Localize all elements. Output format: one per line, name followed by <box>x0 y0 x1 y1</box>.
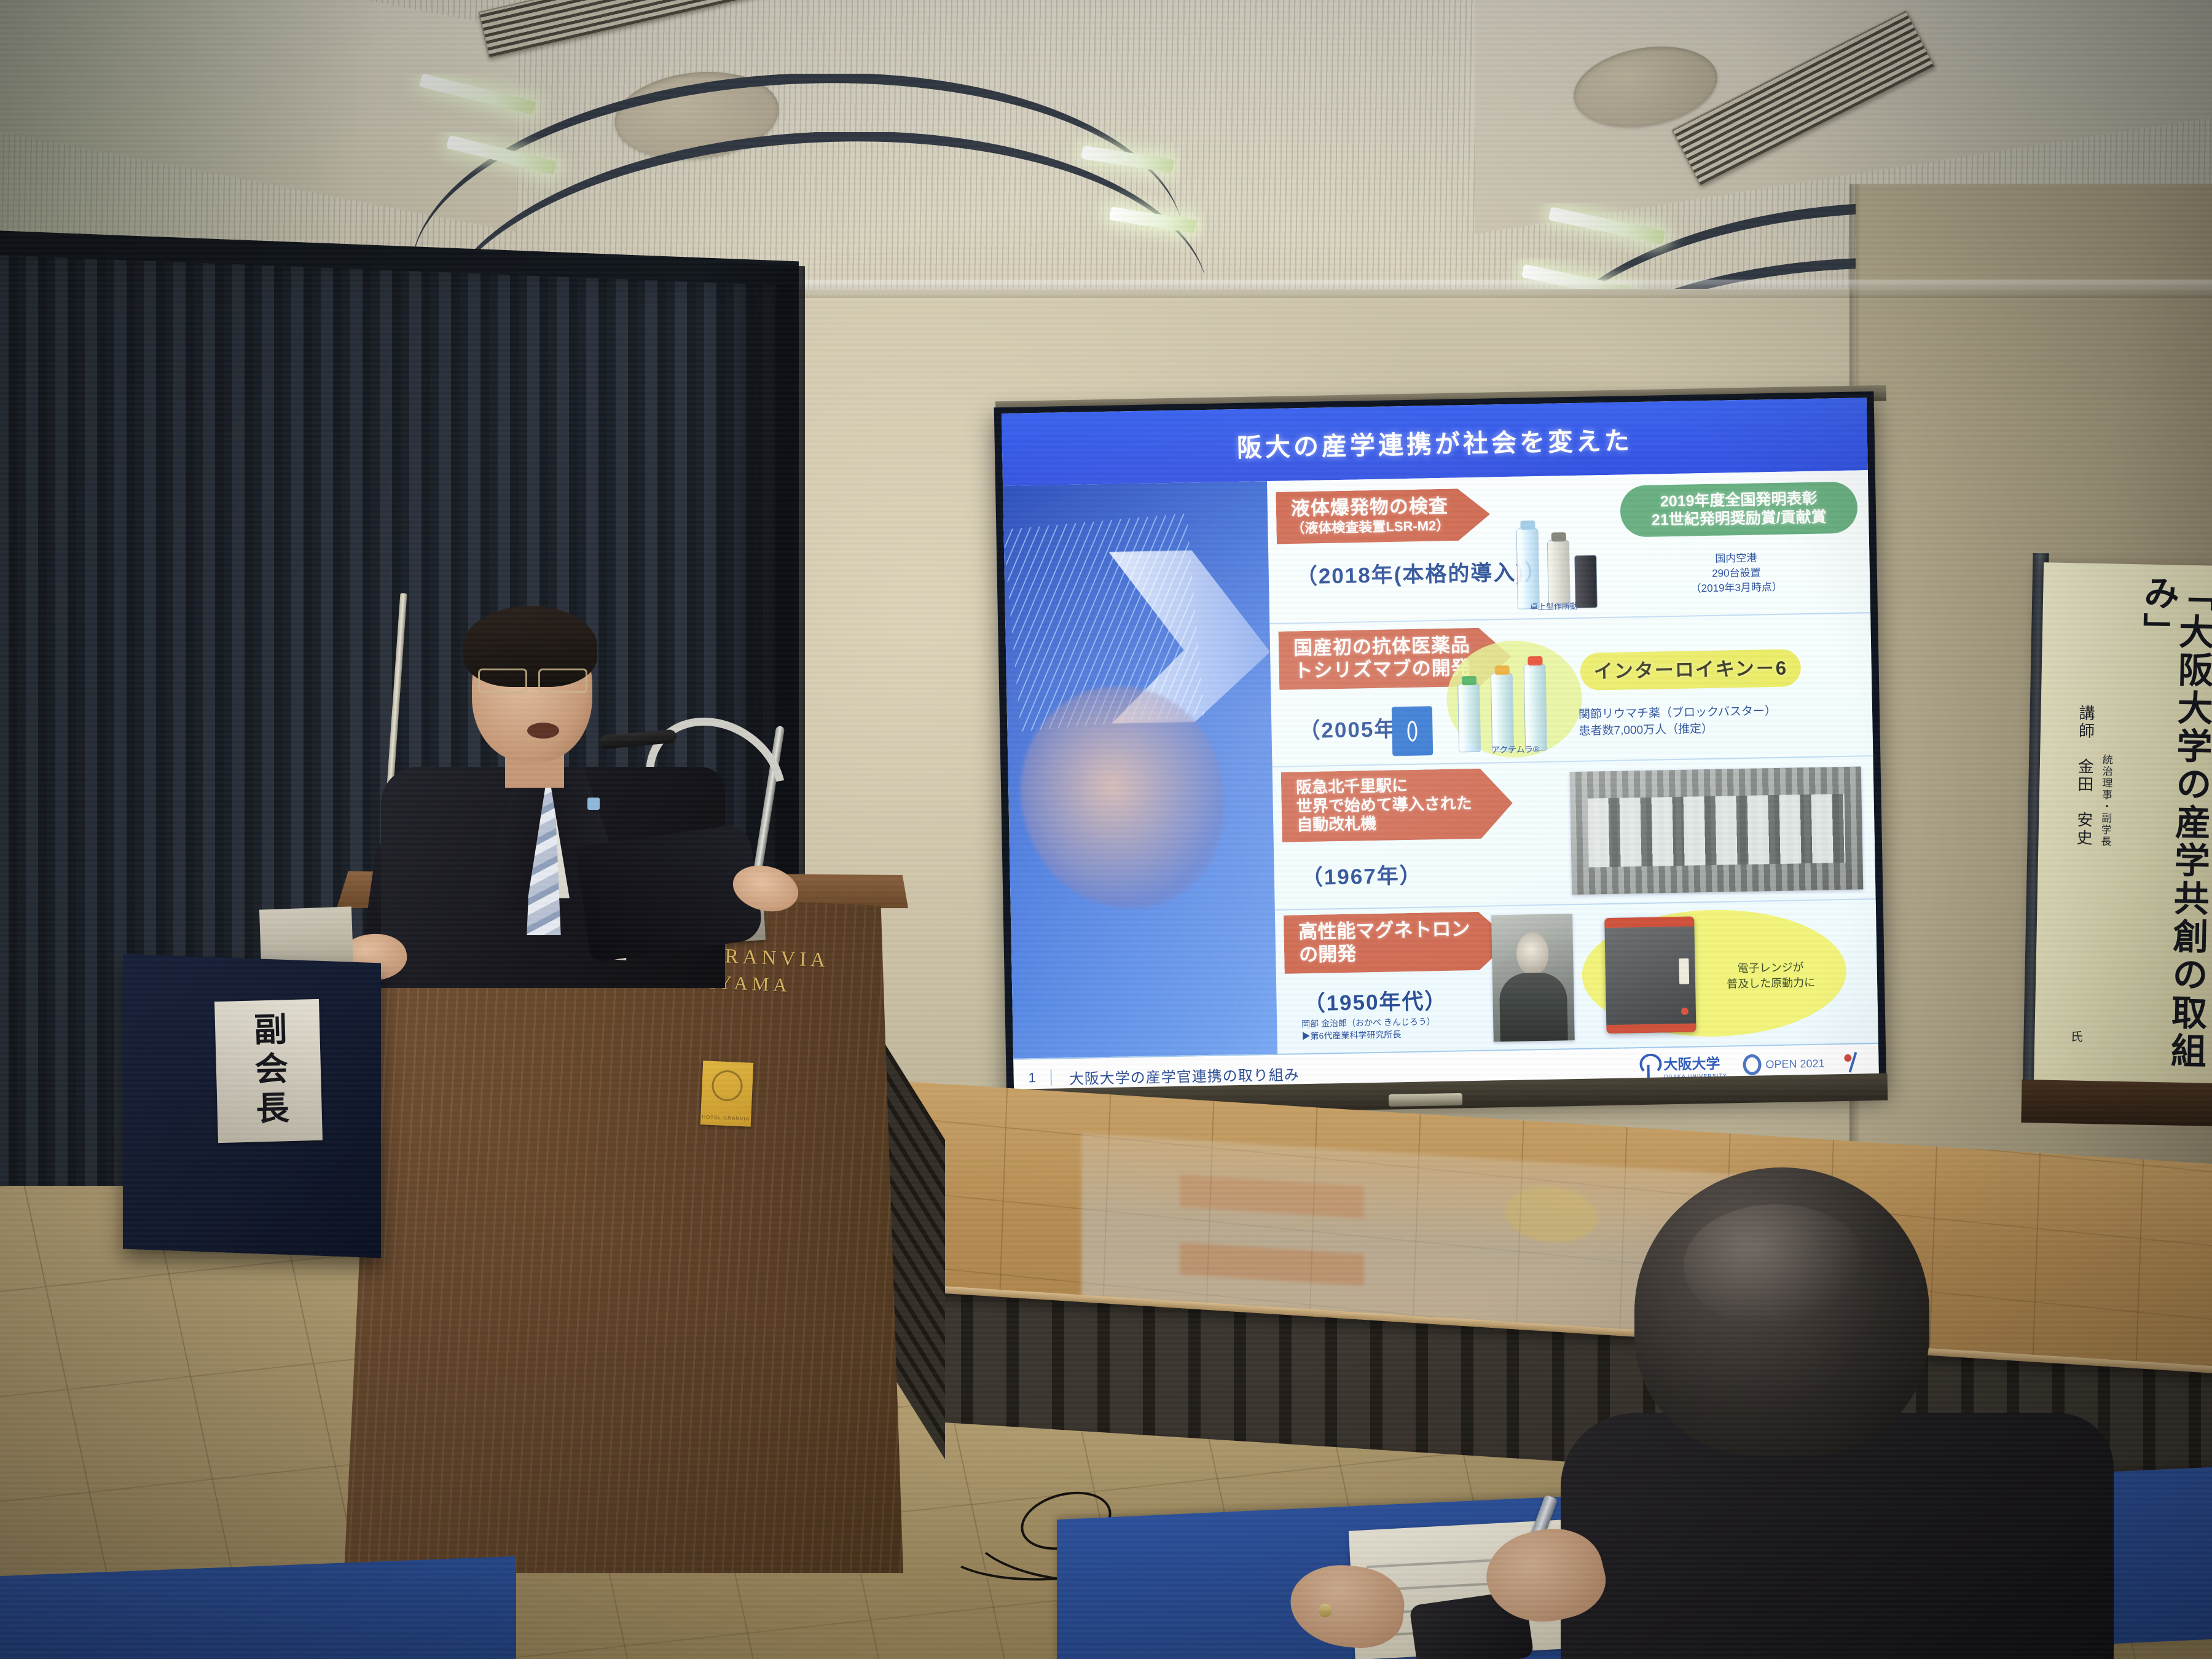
slide-page-number: 1 <box>1014 1070 1052 1086</box>
row-year: （1950年代） <box>1303 984 1448 1018</box>
open-ring-icon <box>1743 1054 1762 1076</box>
conference-room-photo: 阪大の産学連携が社会を変えた 液体爆発物の検査 （液体検査装置LSR-M2） （… <box>0 0 2212 1659</box>
logo-secondary-label: OPEN 2021 <box>1765 1057 1824 1071</box>
award-pill-line2: 21世紀発明奨励賞/貢献賞 <box>1634 508 1844 530</box>
open-2021-logo: OPEN 2021 <box>1743 1053 1825 1075</box>
speaker-lapel-pin <box>587 798 600 810</box>
row-tag-line2: 世界で始めて導入された <box>1296 794 1472 816</box>
row-tag-line1: 高性能マグネトロン <box>1298 918 1470 944</box>
slide-title: 阪大の産学連携が社会を変えた <box>1236 420 1633 464</box>
lecture-title-banner: 「大阪大学の産学共創の取組み」 講師 金田 安史 統治理事・副学長 氏 <box>2034 562 2212 1088</box>
screen-pull-handle <box>1389 1093 1462 1107</box>
slide-row: 阪急北千里駅に 世界で始めて導入された 自動改札機 （1967年） <box>1273 756 1876 911</box>
crest-caption: HOTEL GRANVIA <box>700 1114 751 1122</box>
banner-base <box>2021 1080 2212 1126</box>
row-caption: 卓上型作所動 <box>1502 600 1606 613</box>
inventor-portrait-photo <box>1491 914 1575 1041</box>
row-note-secondary: 電子レンジが 普及した原動力に <box>1700 959 1841 993</box>
logo-primary-label: 大阪大学 <box>1663 1056 1720 1073</box>
row-tag-line2: （液体検査装置LSR-M2） <box>1291 517 1449 536</box>
audience-hair-highlight <box>1684 1204 1868 1327</box>
slide-rows: 液体爆発物の検査 （液体検査装置LSR-M2） （2018年(本格的導入)） 卓… <box>1267 470 1878 1054</box>
slide-row: 高性能マグネトロン の開発 （1950年代） 岡部 金治郎（おかべ きんじろう）… <box>1275 900 1878 1054</box>
crest-emblem-icon <box>712 1070 743 1102</box>
podium-crest-plaque: HOTEL GRANVIA <box>700 1061 753 1126</box>
audience-ring <box>1319 1604 1332 1617</box>
row-year: （2018年(本格的導入)） <box>1295 555 1547 590</box>
row-note: 岡部 金治郎（おかべ きんじろう） ▶第6代産業科学研究所長 <box>1301 1014 1505 1042</box>
slide-body: 液体爆発物の検査 （液体検査装置LSR-M2） （2018年(本格的導入)） 卓… <box>1003 470 1878 1059</box>
row-arrow-tag: 阪急北千里駅に 世界で始めて導入された 自動改札機 <box>1281 768 1513 842</box>
row-tag-line2: トシリズマブの開発 <box>1293 657 1471 683</box>
chugai-logo <box>1392 706 1433 756</box>
eyeglasses-icon <box>478 669 587 691</box>
partner-mark-icon <box>1840 1049 1865 1077</box>
slide-background-photo <box>1003 481 1277 1059</box>
drug-vial-photo <box>1454 651 1579 753</box>
award-pill: 2019年度全国発明表彰 21世紀発明奨励賞/貢献賞 <box>1620 481 1857 537</box>
osaka-university-mark-icon <box>1637 1054 1659 1080</box>
row-note: 国内空港 290台設置 （2019年3月時点） <box>1634 549 1838 597</box>
row-arrow-tag: 高性能マグネトロン の開発 <box>1284 911 1512 974</box>
projected-slide: 阪大の産学連携が社会を変えた 液体爆発物の検査 （液体検査装置LSR-M2） （… <box>1002 398 1879 1097</box>
ticket-gate-photo <box>1570 766 1864 895</box>
row-tag-line1: 液体爆発物の検査 <box>1291 495 1450 520</box>
table-placard: 副会長 <box>214 999 323 1143</box>
speaker-person <box>332 602 762 983</box>
row-note-line3: （2019年3月時点） <box>1635 579 1838 597</box>
speaker-mouth <box>527 723 559 739</box>
slide-row: 液体爆発物の検査 （液体検査装置LSR-M2） （2018年(本格的導入)） 卓… <box>1267 470 1870 624</box>
interleukin-pill: インターロイキン－6 <box>1580 649 1801 691</box>
row-year: （1967年） <box>1301 858 1422 892</box>
row-tag-line1: 国産初の抗体医薬品 <box>1293 634 1471 660</box>
banner-affiliation: 統治理事・副学長 <box>2094 754 2114 1012</box>
slide-row: 国産初の抗体医薬品 トシリズマブの開発 （2005年） アクテムラ® イン <box>1269 613 1873 767</box>
row-note: 関節リウマチ薬（ブロックバスター） 患者数7,000万人（推定） <box>1579 702 1868 740</box>
table-placard-label: 副会長 <box>243 1011 294 1131</box>
banner-speaker-line: 講師 金田 安史 <box>2066 704 2098 1049</box>
detector-device-photo <box>1512 491 1599 610</box>
row-tag-line2: の開発 <box>1299 941 1471 967</box>
microwave-oven-photo <box>1604 916 1696 1033</box>
row-tag-line3: 自動改札機 <box>1296 812 1473 834</box>
row-caption: アクテムラ® <box>1454 743 1577 757</box>
row-arrow-tag: 液体爆発物の検査 （液体検査装置LSR-M2） <box>1276 488 1490 544</box>
row-note2-line2: 普及した原動力に <box>1700 975 1841 992</box>
banner-title: 「大阪大学の産学共創の取組み」 <box>2131 574 2212 1073</box>
banner-honorific: 氏 <box>2066 1030 2084 1067</box>
